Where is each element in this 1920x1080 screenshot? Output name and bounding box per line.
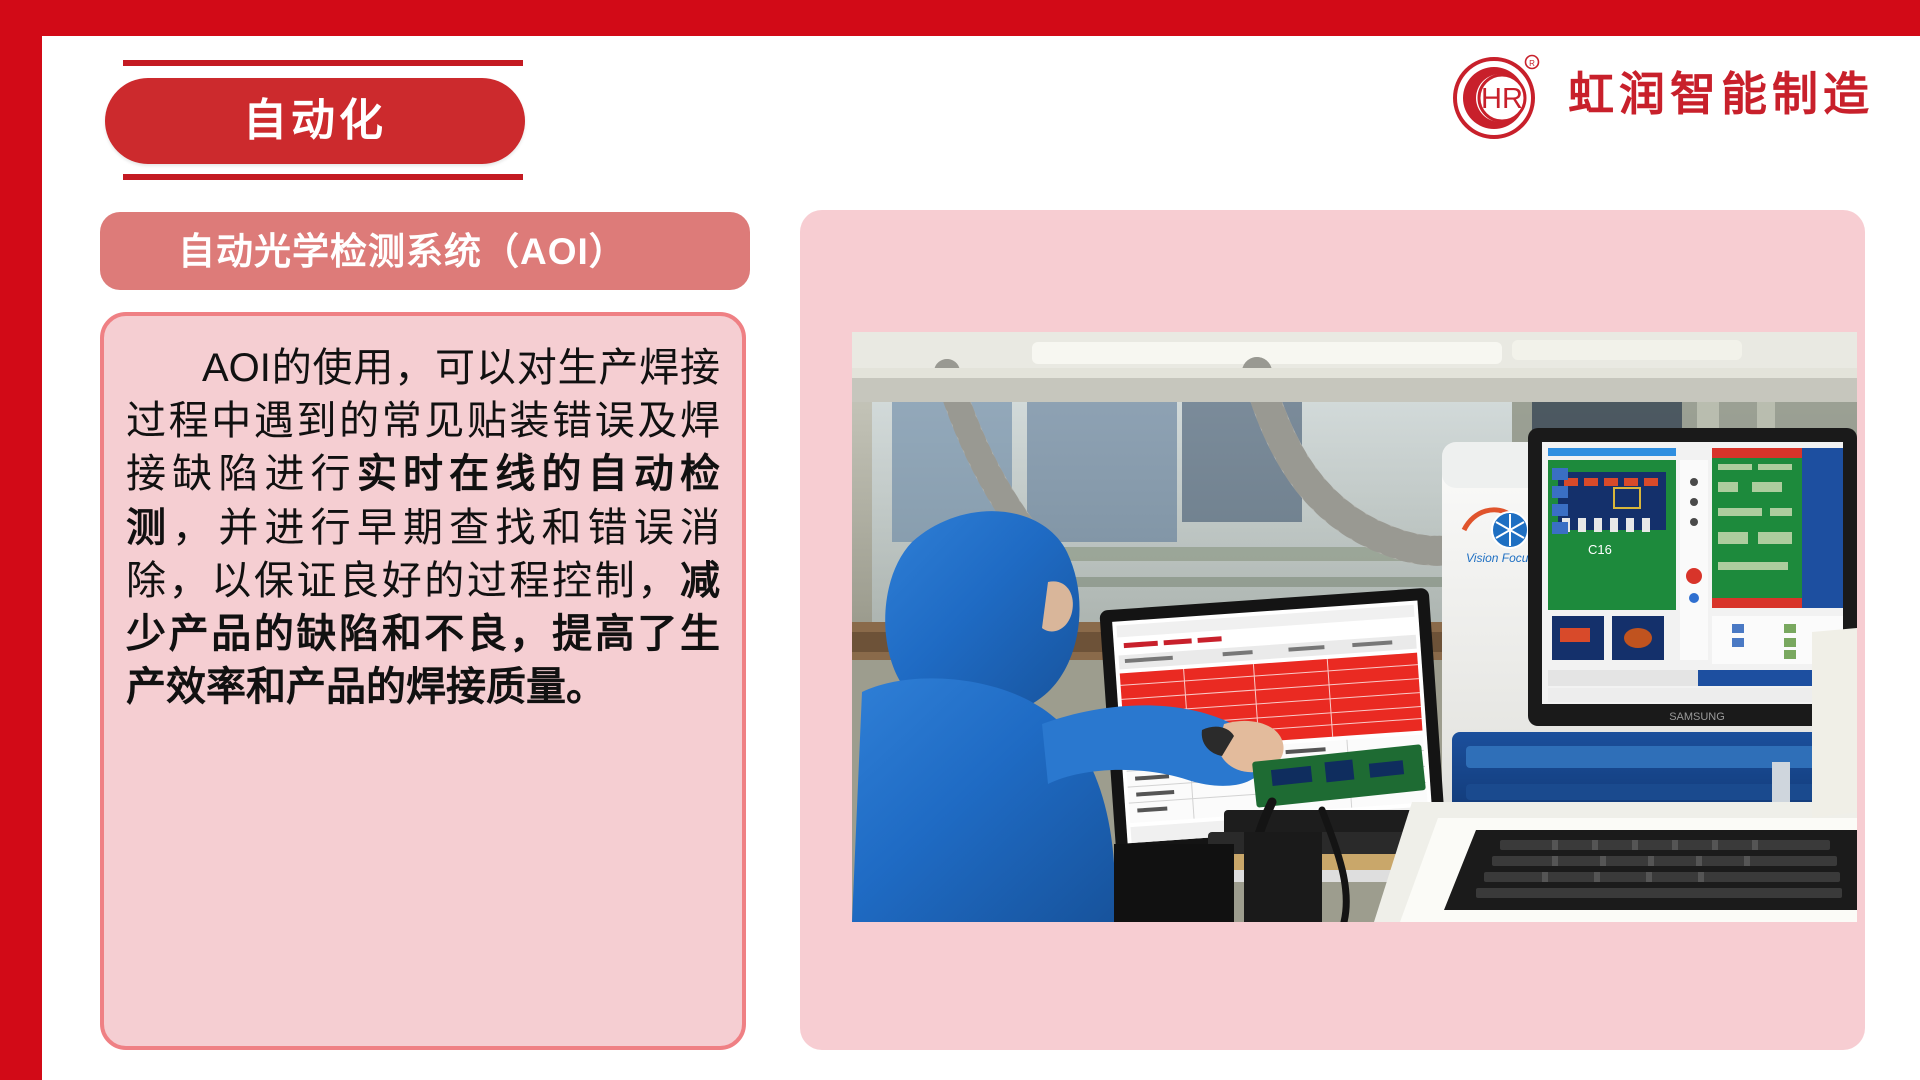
body-paragraph: AOI的使用，可以对生产焊接过程中遇到的常见贴装错误及焊接缺陷进行实时在线的自动… <box>126 342 720 714</box>
svg-text:HR: HR <box>1481 83 1523 115</box>
body-text-card: AOI的使用，可以对生产焊接过程中遇到的常见贴装错误及焊接缺陷进行实时在线的自动… <box>100 312 746 1050</box>
subtitle-text: 自动光学检测系统（AOI） <box>178 233 627 270</box>
brand-name: 虹润智能制造 <box>1568 71 1874 117</box>
slide-root: HR R 虹润智能制造 自动化 自动光学检测系统（AOI） AOI的使用，可以对… <box>0 0 1920 1080</box>
section-title-pill: 自动化 <box>105 78 525 164</box>
brand-lockup: HR R 虹润智能制造 <box>1450 48 1874 140</box>
section-title-group: 自动化 <box>105 60 525 180</box>
svg-text:R: R <box>1529 59 1535 68</box>
subtitle-bar: 自动光学检测系统（AOI） <box>100 212 750 290</box>
svg-text:Vision Focus: Vision Focus <box>1466 551 1534 565</box>
svg-text:SAMSUNG: SAMSUNG <box>1669 711 1725 723</box>
aoi-workstation-photo: Vision Focus <box>852 332 1857 922</box>
section-title-text: 自动化 <box>243 99 387 143</box>
top-red-bar <box>0 0 1920 36</box>
photo-frame: Vision Focus <box>800 210 1865 1050</box>
body-plain-2: ，并进行早期查找和错误消除，以保证良好的过程控制， <box>126 506 720 603</box>
title-rule-bottom <box>123 174 523 180</box>
hr-circle-logo-icon: HR R <box>1450 48 1542 140</box>
title-rule-top <box>123 60 523 66</box>
left-red-bar <box>0 0 42 1080</box>
svg-text:C16: C16 <box>1588 542 1612 557</box>
